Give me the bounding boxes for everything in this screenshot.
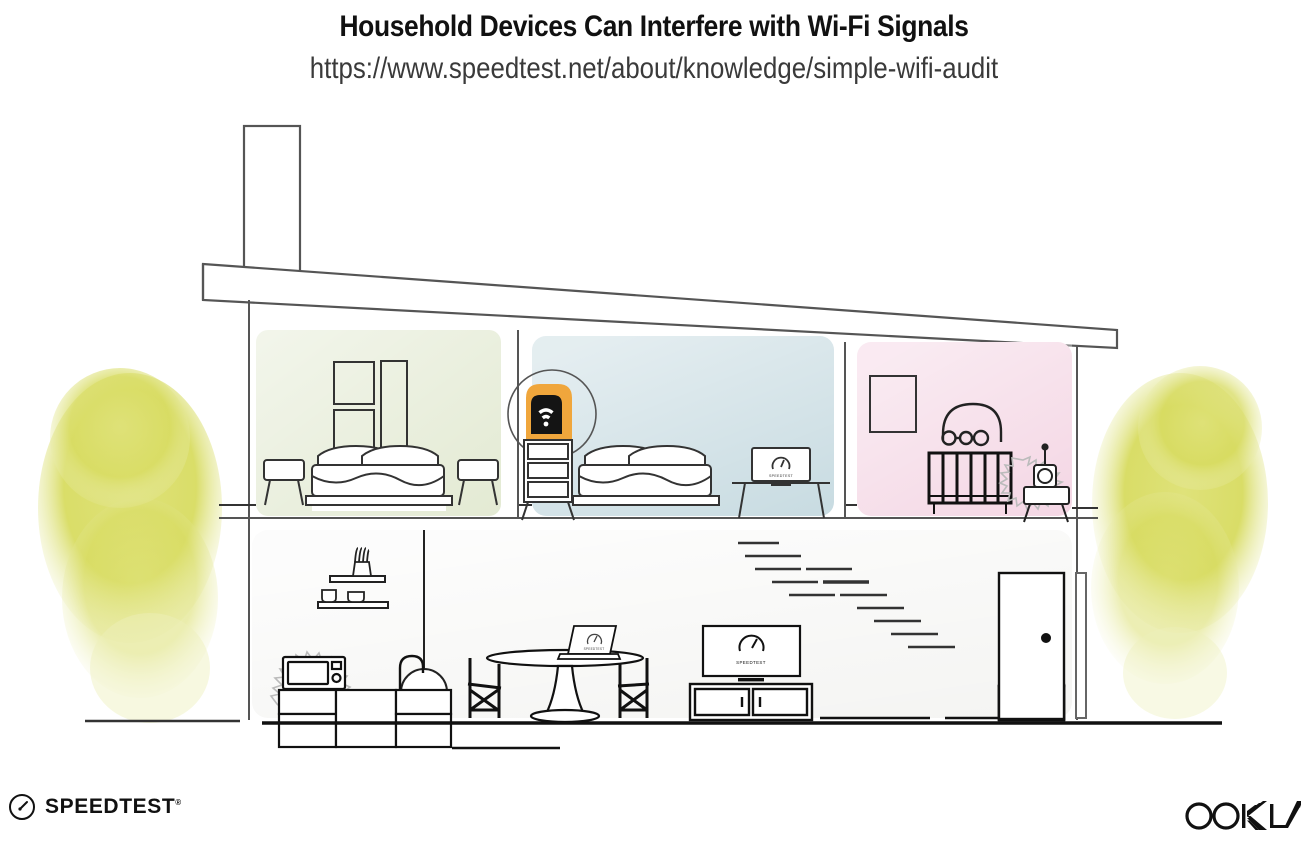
svg-text:SPEEDTEST: SPEEDTEST (584, 647, 605, 651)
speedtest-gauge-icon (8, 793, 36, 821)
infographic-page: Household Devices Can Interfere with Wi-… (0, 0, 1308, 861)
tv: SPEEDTEST (703, 626, 800, 681)
room-bedroom-blue: SPEEDTEST (508, 336, 834, 520)
screen-label: SPEEDTEST (769, 474, 794, 478)
ground (85, 721, 1222, 723)
source-url: https://www.speedtest.net/about/knowledg… (92, 50, 1217, 88)
kitchen-counters (279, 690, 451, 747)
ookla-trademark: ® (1297, 803, 1301, 810)
front-door-icon (999, 573, 1064, 719)
speedtest-logo: SPEEDTEST® (8, 793, 181, 821)
speedtest-wordmark: SPEEDTEST® (45, 795, 181, 819)
speedtest-trademark: ® (175, 798, 181, 807)
door-knob (1041, 633, 1051, 643)
window-pillar (1076, 573, 1086, 718)
svg-text:SPEEDTEST: SPEEDTEST (736, 660, 766, 665)
bed (573, 446, 719, 505)
wifi-router (526, 384, 572, 440)
room-nursery-pink (846, 342, 1098, 561)
foliage-left (38, 368, 222, 723)
room-bedroom-green (219, 330, 501, 516)
header: Household Devices Can Interfere with Wi-… (0, 0, 1308, 87)
foliage-right (1091, 366, 1268, 719)
house-illustration: SPEEDTEST (0, 108, 1308, 758)
microwave (283, 657, 345, 689)
ookla-wordmark: ® (1184, 797, 1302, 833)
page-title: Household Devices Can Interfere with Wi-… (78, 8, 1229, 46)
footer: SPEEDTEST® ® (0, 793, 1308, 839)
chimney (244, 126, 300, 276)
room-living-kitchen: SPEEDTEST (252, 530, 1072, 748)
bed (306, 446, 452, 511)
ookla-logo: ® (1184, 797, 1302, 838)
speedtest-wordmark-text: SPEEDTEST (45, 795, 175, 818)
monitor: SPEEDTEST (752, 448, 810, 486)
side-table (1024, 487, 1069, 522)
media-console (690, 684, 812, 720)
